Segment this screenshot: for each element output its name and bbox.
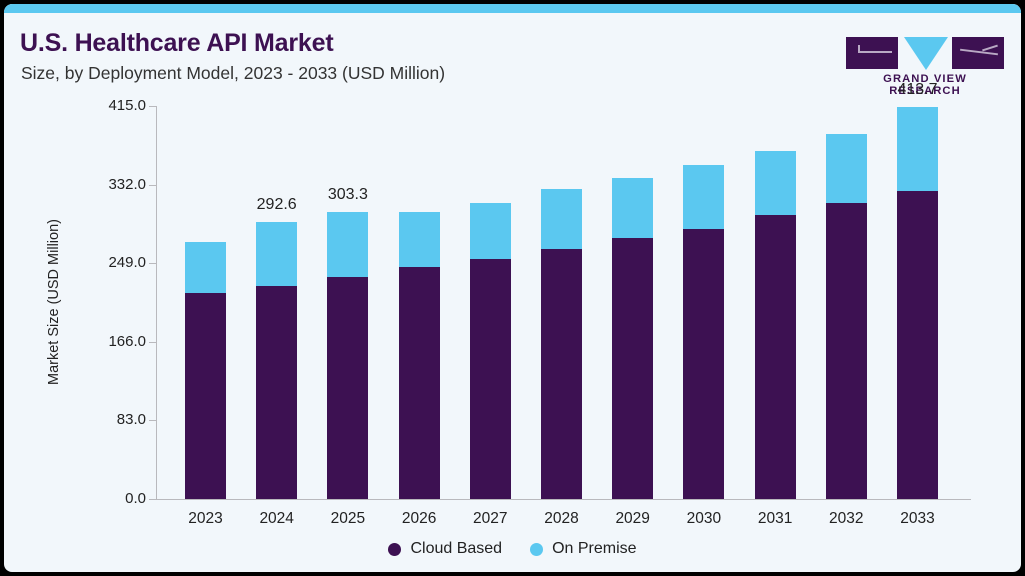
- y-axis-tick-mark: [149, 499, 156, 500]
- chart-legend: Cloud BasedOn Premise: [4, 540, 1021, 558]
- y-axis-tick-label: 332.0: [86, 176, 146, 193]
- bar-column[interactable]: [755, 151, 796, 499]
- bar-column[interactable]: [541, 189, 582, 499]
- legend-item-on-premise[interactable]: On Premise: [530, 540, 636, 558]
- bar-column[interactable]: [399, 212, 440, 499]
- legend-item-cloud-based[interactable]: Cloud Based: [388, 540, 502, 558]
- y-axis-tick-mark: [149, 420, 156, 421]
- bar-segment-cloud-based[interactable]: [897, 191, 938, 499]
- bar-segment-cloud-based[interactable]: [612, 238, 653, 499]
- bar-segment-on-premise[interactable]: [897, 107, 938, 191]
- bar-column[interactable]: [897, 107, 938, 499]
- x-axis-tick-label: 2033: [868, 510, 968, 528]
- bar-segment-on-premise[interactable]: [256, 222, 297, 286]
- y-axis-tick-label: 83.0: [86, 411, 146, 428]
- bar-segment-on-premise[interactable]: [185, 242, 226, 293]
- bar-segment-on-premise[interactable]: [826, 134, 867, 203]
- y-axis-tick-label: 0.0: [86, 490, 146, 507]
- bar-segment-cloud-based[interactable]: [327, 277, 368, 499]
- y-axis-tick-label: 249.0: [86, 254, 146, 271]
- bar-segment-cloud-based[interactable]: [185, 293, 226, 499]
- bar-segment-on-premise[interactable]: [470, 203, 511, 259]
- bar-segment-cloud-based[interactable]: [683, 229, 724, 499]
- bar-value-label: 303.3: [288, 186, 408, 204]
- legend-label: Cloud Based: [410, 540, 502, 558]
- legend-label: On Premise: [552, 540, 636, 558]
- y-axis-label: Market Size (USD Million): [46, 132, 62, 472]
- y-axis-tick-mark: [149, 106, 156, 107]
- bar-segment-cloud-based[interactable]: [755, 215, 796, 499]
- legend-color-swatch-icon: [530, 543, 543, 556]
- chart-plot-area: Market Size (USD Million) 0.083.0166.024…: [4, 4, 1021, 572]
- bar-column[interactable]: [185, 242, 226, 499]
- bar-segment-cloud-based[interactable]: [541, 249, 582, 499]
- bar-segment-on-premise[interactable]: [755, 151, 796, 215]
- bar-column[interactable]: [256, 222, 297, 499]
- bar-segment-on-premise[interactable]: [541, 189, 582, 249]
- bar-column[interactable]: [327, 212, 368, 499]
- bar-column[interactable]: [470, 203, 511, 499]
- y-axis-tick-label: 415.0: [86, 97, 146, 114]
- y-axis-tick-mark: [149, 185, 156, 186]
- bar-segment-cloud-based[interactable]: [826, 203, 867, 499]
- y-axis-tick-mark: [149, 342, 156, 343]
- bar-column[interactable]: [612, 178, 653, 499]
- chart-card: U.S. Healthcare API Market Size, by Depl…: [4, 4, 1021, 572]
- y-axis-tick-label: 166.0: [86, 333, 146, 350]
- bar-segment-on-premise[interactable]: [612, 178, 653, 238]
- y-axis-line: [156, 106, 157, 500]
- bar-segment-cloud-based[interactable]: [399, 267, 440, 499]
- bar-column[interactable]: [683, 165, 724, 499]
- bar-segment-on-premise[interactable]: [683, 165, 724, 229]
- bar-segment-on-premise[interactable]: [327, 212, 368, 278]
- bar-segment-cloud-based[interactable]: [470, 259, 511, 499]
- legend-color-swatch-icon: [388, 543, 401, 556]
- bar-segment-on-premise[interactable]: [399, 212, 440, 267]
- y-axis-tick-mark: [149, 263, 156, 264]
- x-axis-line: [156, 499, 971, 500]
- bar-value-label: 413.7: [858, 81, 978, 99]
- bar-segment-cloud-based[interactable]: [256, 286, 297, 499]
- bar-column[interactable]: [826, 134, 867, 499]
